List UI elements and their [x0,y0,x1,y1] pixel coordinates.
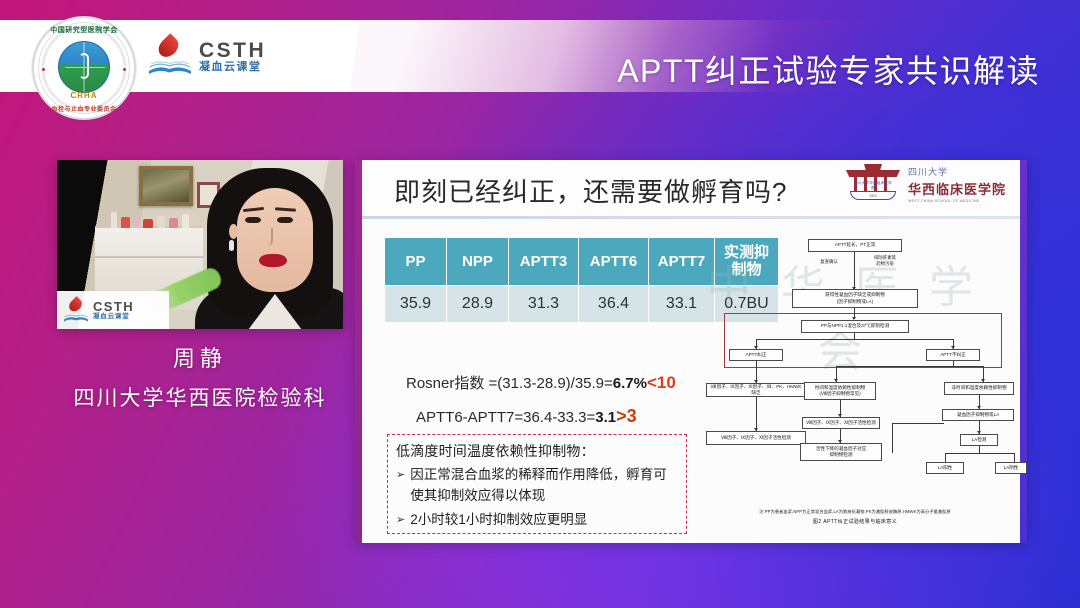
gate-text-line2: 1910 [854,194,892,198]
slide-body: PP NPP APTT3 APTT6 APTT7 实测抑制物 35.9 28.9… [362,219,1020,543]
flow-connector [892,423,893,453]
flow-node-mid2: Ⅷ因子、Ⅸ因子、Ⅺ因子活性检测 [802,417,880,429]
callout-heading: 低滴度时间温度依赖性抑制物： [396,441,678,462]
table-cell-aptt3: 31.3 [509,285,579,322]
watermark-text: CSTH 凝血云课堂 [93,300,134,321]
formula-aptt-diff-expr: =36.4-33.3= [514,409,595,426]
table-cell-pp: 35.9 [385,285,447,322]
flow-node-second: 获得性凝血因子缺乏或抑制物 (因子抑制物或LA) [792,289,918,308]
flow-connector [945,453,946,462]
flow-node-mix: PP与NPP1:1混合及37℃即刻检测 [801,320,909,333]
flow-connector [854,252,855,289]
flow-connector [979,446,980,453]
formula-aptt-diff-result: 3.1 [595,409,616,426]
table-header-aptt6: APTT6 [579,238,649,286]
speaker-affiliation: 四川大学华西医院检验科 [37,382,363,412]
university-name: 四川大学 [908,165,1006,178]
csth-text: CSTH 凝血云课堂 [199,40,266,73]
formula-block: Rosner指数 =(31.3-28.9)/35.9=6.7%<10 APTT6… [406,367,676,433]
table-header-pp: PP [385,238,447,286]
presenter-eye-right [277,217,293,223]
csth-logo: CSTH 凝血云课堂 [148,36,266,76]
crha-monogram: CRHA [70,91,97,100]
flow-label-right: 排除肝素等 药物污染 [859,255,911,267]
university-wordmark: 四川大学 华西临床医学院 WEST CHINA SCHOOL OF MEDICI… [908,165,1006,203]
flow-connector [1014,453,1015,462]
earring [229,240,234,251]
presenter-lips [259,254,287,267]
watermark-mark [63,298,89,323]
flow-node-left-leaf1: Ⅷ因子、Ⅸ因子、Ⅺ因子、Ⅻ、PK、HMWK缺乏 [706,383,806,397]
blood-drop-icon [155,33,183,61]
flowchart-caption: 图2 APTT纠正试验结果与临床意义 [696,518,1014,525]
west-china-gate-icon: 四川大学华西临床医学院 1910 [846,164,900,204]
table-header-aptt3: APTT3 [509,238,579,286]
flow-node-right2: 凝血因子抑制物或LA [942,409,1014,421]
formula-rosner-result: 6.7% [613,375,647,392]
video-watermark-logo: CSTH 凝血云课堂 [57,291,169,329]
crha-arc-top-text: 中国研究型医院学会 [50,25,118,35]
flow-node-not-corrected: APTT不纠正 [926,349,980,361]
watermark-name: CSTH [93,300,134,314]
formula-aptt-diff-label: APTT6-APTT7 [416,409,514,426]
flow-label-left: 复查确认 [808,259,850,265]
csth-mark [148,36,192,76]
watermark-subtitle: 凝血云课堂 [93,313,134,320]
flow-connector [854,333,855,339]
presenter-ear [229,224,238,239]
table-header-npp: NPP [447,238,509,286]
university-logos: 四川大学华西临床医学院 1910 四川大学 华西临床医学院 WEST CHINA… [846,164,1006,204]
flowchart: 中华医学会 APTT延长，PT正常 复查确认 排除肝素等 药物污染 获得性凝血因… [696,225,1014,537]
callout-box: 低滴度时间温度依赖性抑制物： ➢ 因正常混合血浆的稀释而作用降低，孵育可使其抑制… [387,434,687,534]
page-header: 中国研究型医院学会 CRHA 血栓与止血专业委员会 CSTH 凝血云课堂 APT… [0,0,1080,108]
wall-painting [139,166,193,206]
open-book-icon [148,59,192,76]
speaker-name: 周静 [57,341,343,373]
callout-item-text: 因正常混合血浆的稀释而作用降低，孵育可使其抑制效应得以体现 [410,465,678,507]
slide-right-accent-bar [1020,160,1027,543]
formula-rosner-expr: =(31.3-28.9)/35.9= [484,375,612,392]
flow-node-corrected: APTT纠正 [729,349,783,361]
flow-node-mid1: 时间和温度依赖性抑制物 (Ⅷ因子抑制物常见) [804,382,876,400]
crha-dot-left [42,68,45,71]
flow-node-right4: LA阳性 [926,462,964,474]
presenter-nose [265,228,273,246]
flow-connector [836,366,984,367]
bullet-icon: ➢ [396,510,405,531]
flow-connector [892,423,944,424]
presenter-figure [193,168,343,329]
flow-connector [756,397,757,431]
gate-text-line1: 四川大学华西临床医学院 [854,181,892,191]
presenter-video[interactable]: CSTH 凝血云课堂 [57,160,343,329]
callout-item: ➢ 2小时较1小时抑制效应更明显 [396,510,678,531]
shelf-items [109,210,201,228]
presenter-face [237,188,313,292]
university-school: 华西临床医学院 [908,179,1006,198]
open-book-icon [63,312,89,323]
flow-node-right1: 非时间和温度依赖性抑制物 [944,382,1014,395]
formula-rosner-compare: <10 [647,373,676,392]
formula-rosner: Rosner指数 =(31.3-28.9)/35.9=6.7%<10 [406,367,676,399]
snake-icon [79,53,89,79]
flow-node-mid3: 活性下降的凝血因子对应 抑制物检测 [800,443,882,461]
csth-subtitle: 凝血云课堂 [199,62,266,73]
slide-header: 即刻已经纠正，还需要做孵育吗? 四川大学华西临床医学院 1910 四川大学 华西… [362,160,1020,216]
callout-item-text: 2小时较1小时抑制效应更明显 [410,510,587,531]
crha-arc-bottom-text: 血栓与止血专业委员会 [51,104,116,113]
flow-node-right5: LA阴性 [995,462,1027,474]
flow-node-right3: LA检测 [960,434,998,446]
flow-node-left-leaf2: Ⅷ因子、Ⅸ因子、Ⅺ因子活性检测 [706,431,806,445]
formula-aptt-diff: APTT6-APTT7=36.4-33.3=3.1>3 [406,399,676,433]
callout-item: ➢ 因正常混合血浆的稀释而作用降低，孵育可使其抑制效应得以体现 [396,465,678,507]
flow-connector [953,361,954,367]
slide-title: 即刻已经纠正，还需要做孵育吗? [394,172,787,209]
flowchart-footnote: 注:PP为患者血浆,NPP为正常混合血浆,LA为狼疮抗凝物,PK为激肽释放酶原,… [696,509,1014,515]
slide-left-accent-bar [355,160,362,543]
table-cell-aptt6: 36.4 [579,285,649,322]
crha-dot-right [123,68,126,71]
formula-aptt-diff-compare: >3 [616,406,637,426]
csth-name: CSTH [199,40,266,61]
university-name-en: WEST CHINA SCHOOL OF MEDICINE [908,199,1006,203]
flow-connector [756,339,954,340]
bullet-icon: ➢ [396,465,405,507]
presentation-slide[interactable]: 即刻已经纠正，还需要做孵育吗? 四川大学华西临床医学院 1910 四川大学 华西… [355,160,1027,543]
presenter-eye-left [245,217,261,223]
formula-rosner-label: Rosner指数 [406,375,484,392]
flow-connector [945,453,1015,454]
crha-logo: 中国研究型医院学会 CRHA 血栓与止血专业委员会 [32,16,136,120]
flow-node-top: APTT延长，PT正常 [808,239,902,252]
page-title: APTT纠正试验专家共识解读 [617,46,1040,92]
table-cell-npp: 28.9 [447,285,509,322]
